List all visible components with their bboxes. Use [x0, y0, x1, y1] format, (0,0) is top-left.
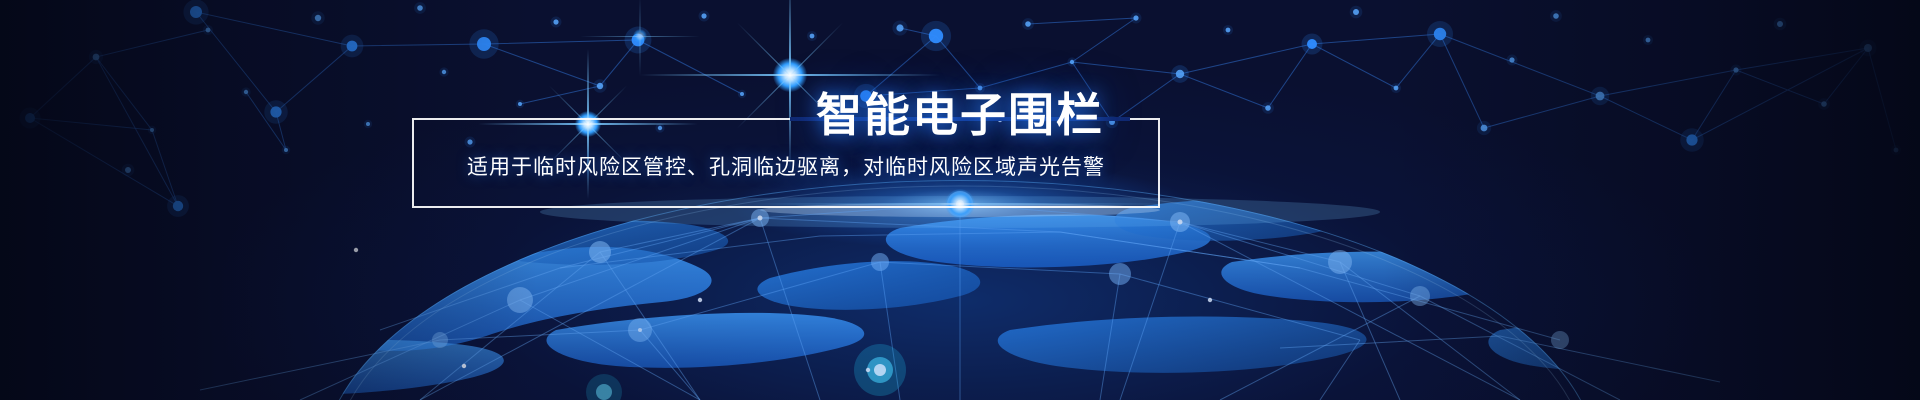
hero-banner: 智能电子围栏 适用于临时风险区管控、孔洞临边驱离，对临时风险区域声光告警 — [0, 0, 1920, 400]
page-subtitle: 适用于临时风险区管控、孔洞临边驱离，对临时风险区域声光告警 — [412, 155, 1160, 180]
title-border-gap — [790, 117, 1130, 121]
